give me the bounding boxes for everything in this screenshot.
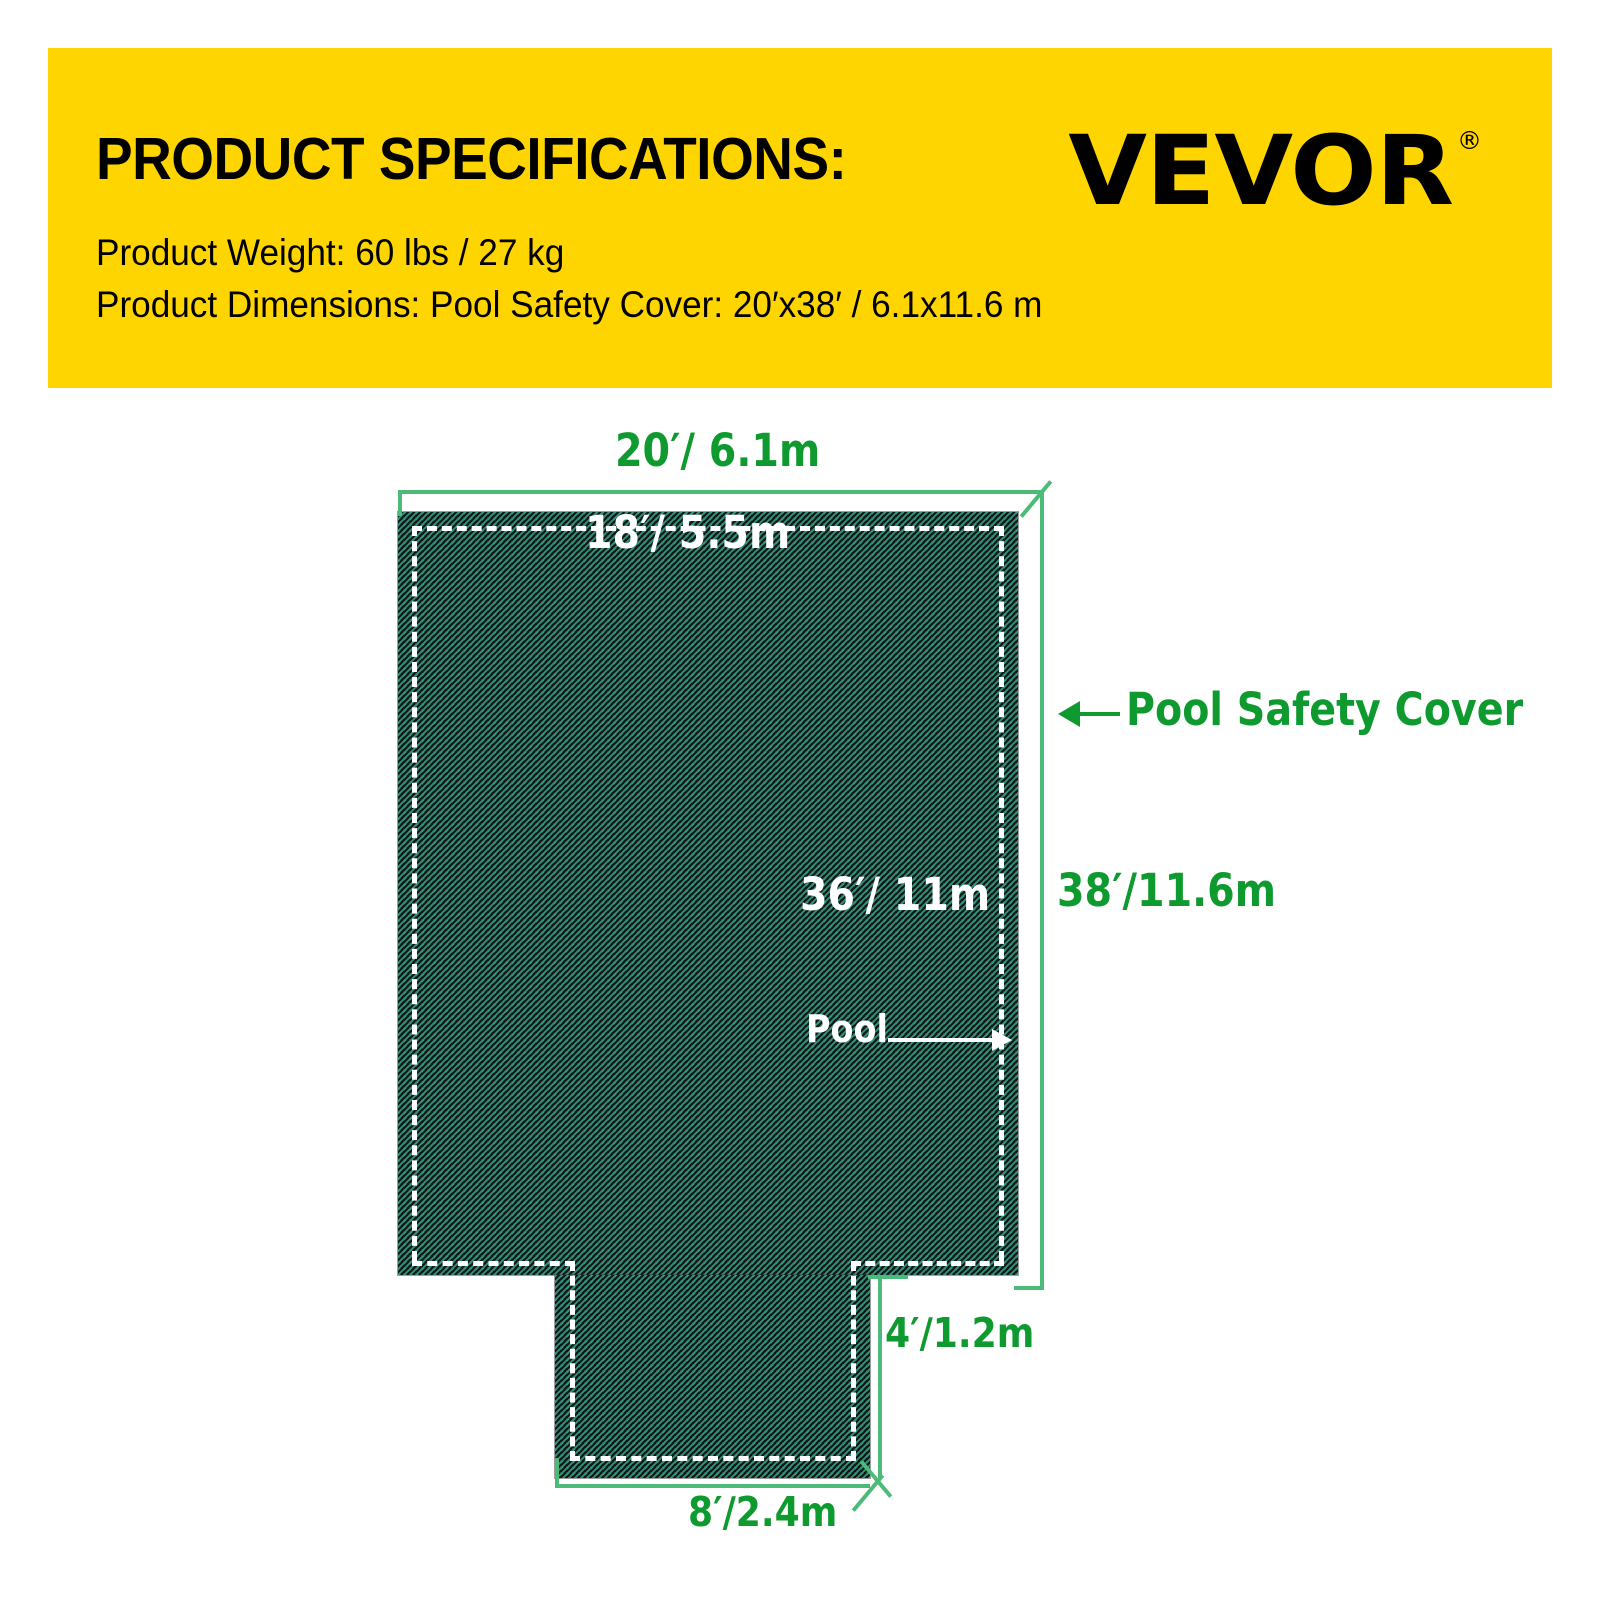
- label-cover-width: 20′/ 6.1m: [615, 428, 820, 474]
- label-cover-length: 38′/11.6m: [1057, 868, 1276, 914]
- label-pool-width: 18′/ 5.5m: [585, 510, 790, 555]
- cover-arrow-line: [1078, 712, 1120, 716]
- pool-cover-diagram: 20′/ 6.1m 18′/ 5.5m 38′/11.6m 36′/ 11m P…: [0, 390, 1600, 1600]
- pool-outline-bottom-right: [851, 1261, 1004, 1266]
- page-title: PRODUCT SPECIFICATIONS:: [96, 130, 846, 189]
- pool-arrow-icon: [992, 1029, 1012, 1051]
- dimension-tick-step-left: [555, 1458, 559, 1488]
- specifications-banner: PRODUCT SPECIFICATIONS: Product Weight: …: [48, 48, 1552, 388]
- dimension-tick-length-bottom: [1014, 1286, 1044, 1290]
- dimension-tick-step-top: [868, 1275, 908, 1279]
- product-spec-page: PRODUCT SPECIFICATIONS: Product Weight: …: [0, 0, 1600, 1600]
- pool-outline-step: [570, 1261, 856, 1461]
- vevor-wordmark: VEVOR: [1068, 126, 1453, 217]
- product-dimensions-text: Product Dimensions: Pool Safety Cover: 2…: [96, 286, 1042, 323]
- label-pool-length: 36′/ 11m: [800, 872, 990, 917]
- dimension-line-step-depth: [878, 1275, 882, 1478]
- dimension-tick-step-right: [852, 1474, 885, 1512]
- product-weight-text: Product Weight: 60 lbs / 27 kg: [96, 234, 564, 271]
- vevor-logo: VEVOR ®: [1090, 126, 1482, 222]
- label-pool: Pool: [806, 1010, 888, 1048]
- dimension-tick-width-right: [1020, 480, 1053, 518]
- label-step-depth: 4′/1.2m: [885, 1313, 1034, 1355]
- label-step-width: 8′/2.4m: [688, 1492, 837, 1534]
- cover-arrow-icon: [1058, 701, 1080, 727]
- pool-arrow-line: [888, 1038, 996, 1042]
- dimension-line-cover-length: [1040, 490, 1044, 1290]
- dimension-line-cover-width: [398, 490, 1040, 494]
- registered-trademark-icon: ®: [1457, 128, 1482, 153]
- pool-outline-bottom-left: [412, 1261, 575, 1266]
- dimension-tick-width-left: [398, 490, 402, 516]
- label-pool-safety-cover: Pool Safety Cover: [1126, 687, 1523, 733]
